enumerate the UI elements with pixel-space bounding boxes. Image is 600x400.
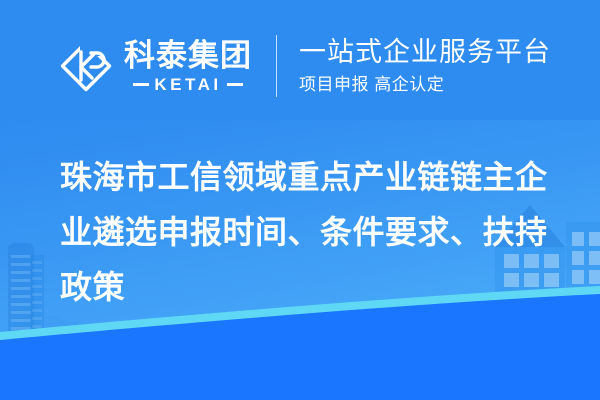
header-divider	[276, 35, 277, 97]
wordmark-rule-right	[227, 83, 243, 86]
brand-logo[interactable]: 科泰集团 KETAI	[58, 38, 252, 94]
header-tagline: 一站式企业服务平台 项目申报 高企认定	[299, 37, 551, 95]
tagline-secondary: 项目申报 高企认定	[299, 75, 551, 95]
brand-name-en-row: KETAI	[124, 76, 252, 93]
brand-wordmark: 科泰集团 KETAI	[124, 40, 252, 93]
page-title: 珠海市工信领域重点产业链链主企业遴选申报时间、条件要求、扶持政策	[60, 150, 560, 315]
tagline-primary: 一站式企业服务平台	[299, 37, 551, 68]
brand-name-cn: 科泰集团	[124, 40, 252, 71]
brand-name-en: KETAI	[154, 76, 221, 93]
ketai-diamond-kp-logo-icon	[58, 38, 114, 94]
banner-header: 科泰集团 KETAI 一站式企业服务平台 项目申报 高企认定	[0, 0, 600, 132]
wordmark-rule-left	[133, 83, 149, 86]
promo-banner: 科泰集团 KETAI 一站式企业服务平台 项目申报 高企认定 珠海市工信领域重点…	[0, 0, 600, 400]
